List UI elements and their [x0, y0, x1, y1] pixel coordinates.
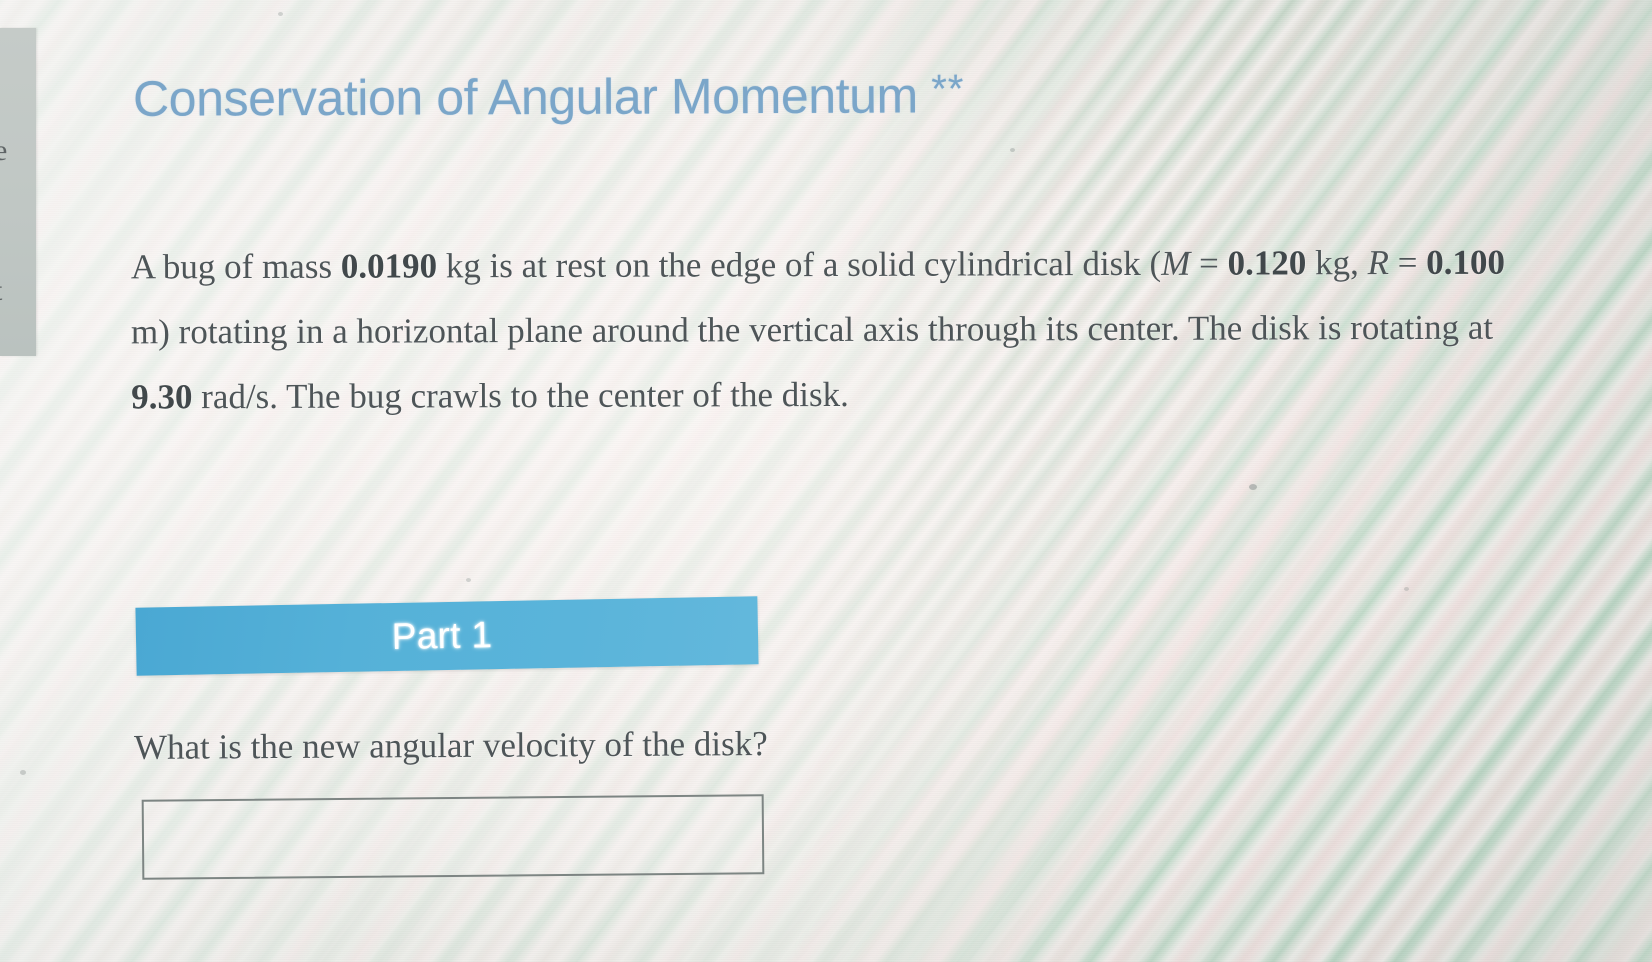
problem-seg-5: =	[1389, 243, 1426, 282]
problem-statement: A bug of mass 0.0190 kg is at rest on th…	[131, 230, 1522, 430]
page-title: Conservation of Angular Momentum **	[133, 66, 965, 128]
content-area: Conservation of Angular Momentum ** A bu…	[0, 0, 1652, 962]
problem-angular-velocity-value: 9.30	[131, 377, 192, 416]
problem-seg-1: A bug of mass	[131, 247, 341, 287]
photo-speck	[1010, 148, 1015, 152]
problem-disk-mass-value: 0.120	[1227, 243, 1306, 282]
photo-speck	[1404, 587, 1409, 591]
problem-seg-6: m) rotating in a horizontal plane around…	[131, 308, 1493, 352]
problem-seg-7: rad/s. The bug crawls to the center of t…	[192, 375, 849, 416]
part-banner-label: Part 1	[136, 609, 759, 662]
photo-speck	[466, 578, 471, 582]
problem-seg-3: =	[1190, 244, 1227, 283]
screenshot-root: e t Conservation of Angular Momentum ** …	[0, 0, 1652, 962]
page-title-text: Conservation of Angular Momentum	[133, 67, 918, 126]
part-question-text: What is the new angular velocity of the …	[134, 718, 768, 774]
problem-radius-value: 0.100	[1426, 243, 1505, 282]
page-title-asterisks: **	[931, 67, 964, 111]
answer-input[interactable]	[144, 796, 763, 877]
problem-seg-4: kg,	[1306, 243, 1367, 282]
photo-speck	[278, 12, 283, 16]
problem-bug-mass-value: 0.0190	[341, 246, 437, 285]
answer-input-box[interactable]	[142, 794, 765, 879]
problem-variable-M: M	[1161, 244, 1190, 283]
part-banner[interactable]: Part 1	[135, 596, 758, 675]
photo-speck	[1249, 484, 1257, 490]
problem-variable-R: R	[1367, 243, 1389, 282]
photo-speck	[20, 770, 26, 775]
problem-seg-2: kg is at rest on the edge of a solid cyl…	[437, 244, 1161, 286]
